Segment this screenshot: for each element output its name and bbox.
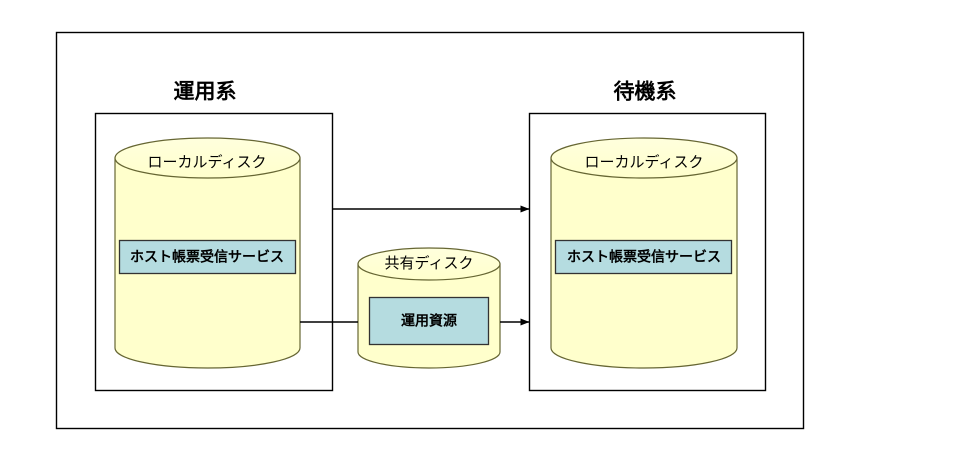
shared-disk-label: 共有ディスク <box>385 254 474 272</box>
active-local-disk-label: ローカルディスク <box>148 153 267 171</box>
standby-local-disk-label: ローカルディスク <box>585 153 704 171</box>
diagram-canvas: 運用系 ローカルディスク ホスト帳票受信サービス 共有ディスク 運用資源 待機系… <box>0 0 960 453</box>
standby-service-label: ホスト帳票受信サービス <box>567 249 721 265</box>
active-system-title: 運用系 <box>174 81 237 104</box>
diagram-root: 運用系 ローカルディスク ホスト帳票受信サービス 共有ディスク 運用資源 待機系… <box>0 0 960 453</box>
standby-system-title: 待機系 <box>614 80 677 104</box>
active-service-label: ホスト帳票受信サービス <box>130 249 284 265</box>
shared-resource-label: 運用資源 <box>401 313 457 329</box>
